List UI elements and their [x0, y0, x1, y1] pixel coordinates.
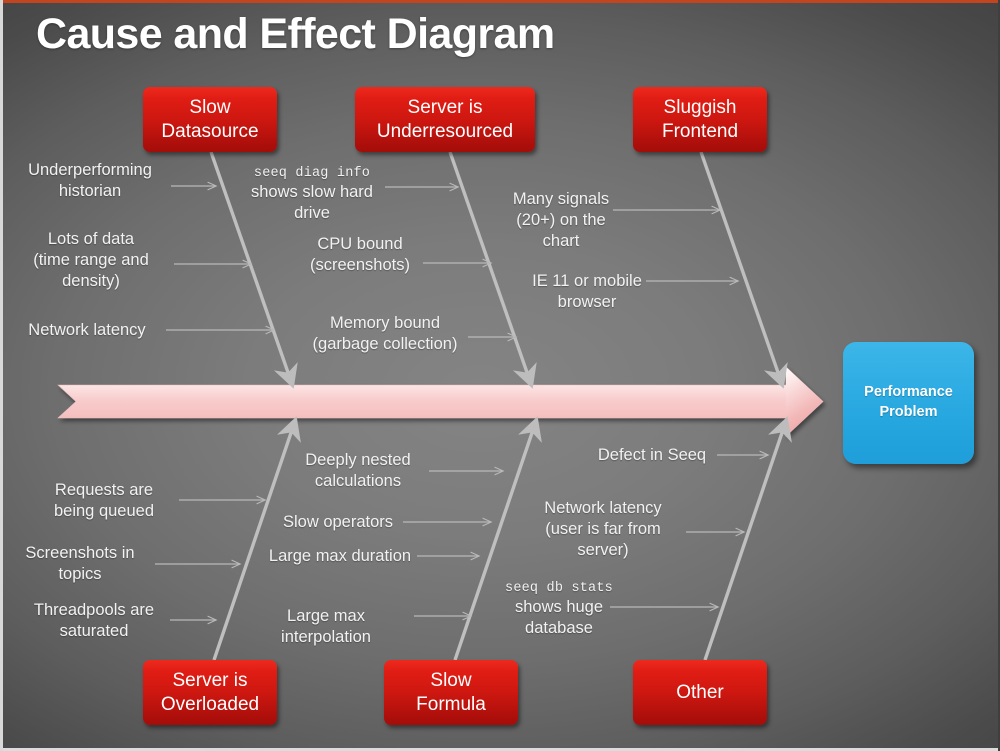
- category-box-slow-datasource[interactable]: Slow Datasource: [143, 87, 277, 152]
- page-title: Cause and Effect Diagram: [36, 10, 554, 59]
- cause-line: Large max duration: [269, 547, 411, 565]
- category-box-server-is-underresourced[interactable]: Server is Underresourced: [355, 87, 535, 152]
- cause-mono-command: seeq db stats: [492, 580, 626, 597]
- cause-cpu-bound: CPU bound (screenshots): [295, 234, 425, 276]
- category-label-line2: Formula: [416, 693, 486, 716]
- cause-line: shows slow hard: [251, 183, 373, 201]
- category-label-line2: Overloaded: [161, 693, 259, 716]
- cause-seeq-db-stats: seeq db stats shows huge database: [492, 580, 626, 639]
- cause-line: Network latency: [544, 499, 661, 517]
- cause-deeply-nested-calculations: Deeply nested calculations: [292, 450, 424, 492]
- category-label-line2: Datasource: [161, 120, 258, 143]
- cause-line: (20+) on the: [516, 211, 605, 229]
- cause-line: Large max interpolation: [281, 607, 371, 646]
- cause-seeq-diag-info: seeq diag info shows slow hard drive: [236, 165, 388, 224]
- category-label-line2: Frontend: [662, 120, 738, 143]
- cause-large-max-interpolation: Large max interpolation: [244, 606, 408, 648]
- cause-line: Requests are: [55, 481, 153, 499]
- cause-line: (garbage collection): [313, 335, 458, 353]
- cause-ie11-or-mobile-browser: IE 11 or mobile browser: [512, 271, 662, 313]
- cause-many-signals: Many signals (20+) on the chart: [496, 189, 626, 252]
- cause-screenshots-in-topics: Screenshots in topics: [8, 543, 152, 585]
- cause-line: Memory bound: [330, 314, 440, 332]
- cause-line: drive: [294, 204, 330, 222]
- category-box-server-is-overloaded[interactable]: Server is Overloaded: [143, 660, 277, 725]
- category-label-line1: Slow: [161, 96, 258, 119]
- cause-line: server): [577, 541, 628, 559]
- cause-threadpools-are-saturated: Threadpools are saturated: [22, 600, 166, 642]
- cause-line: Screenshots in: [25, 544, 134, 562]
- cause-line: chart: [543, 232, 580, 250]
- bone-sluggish-frontend: [701, 152, 781, 381]
- cause-network-latency: Network latency: [8, 320, 166, 341]
- cause-network-latency-user-far-from-server: Network latency (user is far from server…: [528, 498, 678, 561]
- effect-box-performance-problem[interactable]: Performance Problem: [843, 342, 974, 464]
- cause-memory-bound: Memory bound (garbage collection): [300, 313, 470, 355]
- cause-line: browser: [558, 293, 617, 311]
- effect-label-line1: Performance: [864, 384, 953, 400]
- category-label-line1: Server is: [161, 669, 259, 692]
- cause-underperforming-historian: Underperforming historian: [10, 160, 170, 202]
- cause-line: calculations: [315, 472, 401, 490]
- cause-line: IE 11 or mobile: [532, 272, 642, 290]
- slide-left-rule: [0, 0, 3, 751]
- bone-other: [705, 424, 785, 660]
- main-spine-arrow: [58, 367, 823, 436]
- cause-line: Network latency: [28, 321, 145, 339]
- cause-line: (user is far from: [545, 520, 661, 538]
- category-label-line1: Other: [676, 681, 724, 704]
- category-box-slow-formula[interactable]: Slow Formula: [384, 660, 518, 725]
- category-label-line2: Underresourced: [377, 120, 513, 143]
- cause-line: topics: [58, 565, 101, 583]
- category-label-line1: Slow: [416, 669, 486, 692]
- cause-line: Defect in Seeq: [598, 446, 706, 464]
- cause-line: shows huge: [515, 598, 603, 616]
- cause-large-max-duration: Large max duration: [268, 546, 412, 567]
- cause-line: being queued: [54, 502, 154, 520]
- cause-line: saturated: [60, 622, 129, 640]
- effect-label-line2: Problem: [879, 404, 937, 420]
- category-box-other[interactable]: Other: [633, 660, 767, 725]
- category-box-sluggish-frontend[interactable]: Sluggish Frontend: [633, 87, 767, 152]
- cause-line: Underperforming: [28, 161, 152, 179]
- cause-line: (screenshots): [310, 256, 410, 274]
- cause-line: Threadpools are: [34, 601, 154, 619]
- cause-requests-are-being-queued: Requests are being queued: [32, 480, 176, 522]
- cause-line: CPU bound: [317, 235, 402, 253]
- cause-and-effect-slide: Cause and Effect Diagram: [0, 0, 1000, 751]
- cause-line: database: [525, 619, 593, 637]
- category-label-line1: Sluggish: [662, 96, 738, 119]
- cause-slow-operators: Slow operators: [278, 512, 398, 533]
- cause-line: (time range and: [33, 251, 149, 269]
- category-label-line1: Server is: [377, 96, 513, 119]
- cause-defect-in-seeq: Defect in Seeq: [590, 445, 714, 466]
- cause-line: Deeply nested: [305, 451, 411, 469]
- cause-mono-command: seeq diag info: [236, 165, 388, 182]
- cause-line: density): [62, 272, 120, 290]
- cause-lots-of-data: Lots of data (time range and density): [8, 229, 174, 292]
- cause-line: Lots of data: [48, 230, 134, 248]
- cause-line: historian: [59, 182, 121, 200]
- cause-line: Many signals: [513, 190, 609, 208]
- cause-line: Slow operators: [283, 513, 393, 531]
